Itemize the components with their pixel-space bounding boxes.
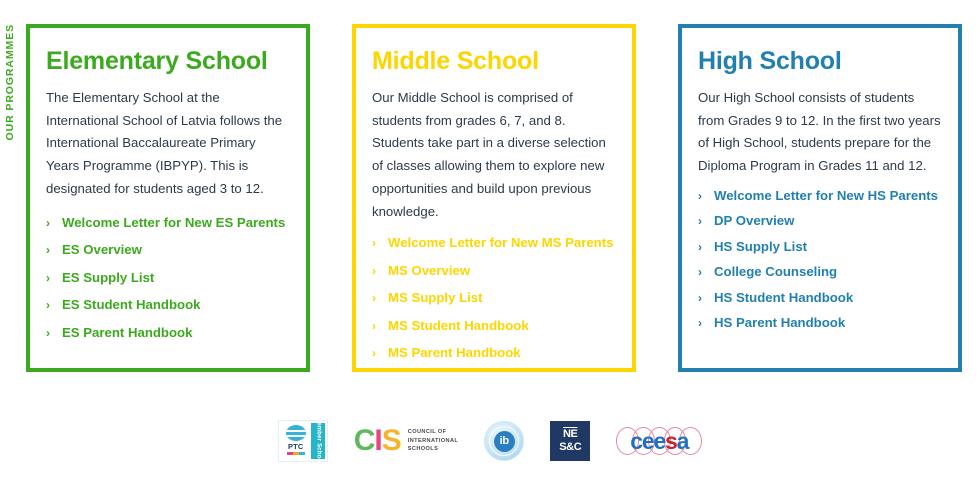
list-item[interactable]: › Welcome Letter for New HS Parents [698,188,942,205]
panel-description-elementary: The Elementary School at the Internation… [46,87,290,201]
ptc-member-badge-text: Member School [314,417,322,464]
cis-subtitle-line-1: COUNCIL OF [408,428,458,437]
chevron-right-icon: › [372,264,388,279]
link-label[interactable]: Welcome Letter for New MS Parents [388,235,613,252]
our-programmes-side-label: OUR PROGRAMMES [0,24,21,164]
panel-title-elementary: Elementary School [46,48,290,75]
chevron-right-icon: › [46,298,62,313]
chevron-right-icon: › [698,214,714,229]
link-label[interactable]: ES Supply List [62,270,154,287]
link-label[interactable]: HS Supply List [714,239,807,256]
list-item[interactable]: › HS Student Handbook [698,290,942,307]
cis-letter-c: C [354,426,375,456]
ib-logo-icon[interactable]: ib [484,421,524,461]
link-label[interactable]: HS Parent Handbook [714,315,845,332]
cis-subtitle-line-3: SCHOOLS [408,445,458,454]
link-list-elementary: › Welcome Letter for New ES Parents › ES… [46,215,290,342]
panel-high-school: High School Our High School consists of … [678,24,962,372]
link-list-middle: › Welcome Letter for New MS Parents › MS… [372,235,616,362]
list-item[interactable]: › Welcome Letter for New MS Parents [372,235,616,252]
chevron-right-icon: › [698,265,714,280]
ptc-color-bar [287,452,305,455]
list-item[interactable]: › ES Supply List [46,270,290,287]
neasc-line-2: S&C [559,442,581,453]
programme-panels-row: Elementary School The Elementary School … [26,24,962,372]
list-item[interactable]: › DP Overview [698,213,942,230]
list-item[interactable]: › ES Parent Handbook [46,325,290,342]
cis-letter-s: S [382,426,401,456]
ptc-member-school-icon[interactable]: PTC Member School [278,420,328,462]
cis-subtitle-line-2: INTERNATIONAL [408,437,458,446]
cis-subtitle: COUNCIL OF INTERNATIONAL SCHOOLS [408,428,458,454]
list-item[interactable]: › ES Student Handbook [46,297,290,314]
link-label[interactable]: ES Overview [62,242,142,259]
globe-icon [286,425,306,441]
ceesa-logo-icon[interactable]: ceesa [616,424,702,458]
list-item[interactable]: › MS Overview [372,263,616,280]
list-item[interactable]: › MS Parent Handbook [372,345,616,362]
list-item[interactable]: › MS Supply List [372,290,616,307]
panel-description-high: Our High School consists of students fro… [698,87,942,178]
ib-wordmark: ib [494,431,515,452]
list-item[interactable]: › College Counseling [698,264,942,281]
chevron-right-icon: › [372,236,388,251]
list-item[interactable]: › ES Overview [46,242,290,259]
panel-title-middle: Middle School [372,48,616,75]
link-label[interactable]: HS Student Handbook [714,290,853,307]
list-item[interactable]: › Welcome Letter for New ES Parents [46,215,290,232]
cis-logo-icon[interactable]: C I S COUNCIL OF INTERNATIONAL SCHOOLS [354,420,459,462]
chevron-right-icon: › [46,216,62,231]
link-label[interactable]: MS Parent Handbook [388,345,521,362]
panel-middle-school: Middle School Our Middle School is compr… [352,24,636,372]
link-label[interactable]: DP Overview [714,213,794,230]
ceesa-word-part-1: cee [630,428,665,454]
link-label[interactable]: MS Supply List [388,290,483,307]
cis-wordmark: C I S [354,426,401,456]
chevron-right-icon: › [372,291,388,306]
panel-description-middle: Our Middle School is comprised of studen… [372,87,616,223]
link-label[interactable]: College Counseling [714,264,837,281]
chevron-right-icon: › [46,243,62,258]
ceesa-word-part-2: s [665,428,677,454]
link-label[interactable]: Welcome Letter for New ES Parents [62,215,285,232]
accreditation-logo-strip: PTC Member School C I S COUNCIL OF INTER… [0,412,980,470]
chevron-right-icon: › [372,346,388,361]
chevron-right-icon: › [698,240,714,255]
neasc-line-1: NE [563,429,577,440]
neasc-logo-icon[interactable]: NE S&C [550,421,590,461]
link-label[interactable]: MS Student Handbook [388,318,529,335]
link-label[interactable]: Welcome Letter for New HS Parents [714,188,938,205]
chevron-right-icon: › [46,271,62,286]
ptc-member-badge: Member School [311,423,325,459]
chevron-right-icon: › [46,326,62,341]
link-label[interactable]: MS Overview [388,263,470,280]
panel-title-high: High School [698,48,942,75]
list-item[interactable]: › HS Supply List [698,239,942,256]
list-item[interactable]: › HS Parent Handbook [698,315,942,332]
chevron-right-icon: › [698,291,714,306]
ptc-wordmark: PTC [288,442,304,451]
ceesa-word-part-3: a [677,428,689,454]
ceesa-wordmark: ceesa [630,430,688,453]
list-item[interactable]: › MS Student Handbook [372,318,616,335]
link-list-high: › Welcome Letter for New HS Parents › DP… [698,188,942,332]
our-programmes-side-label-text: OUR PROGRAMMES [5,24,16,140]
cis-letter-i: I [374,426,381,456]
ptc-logo-mark: PTC [281,423,311,459]
chevron-right-icon: › [698,316,714,331]
chevron-right-icon: › [698,189,714,204]
link-label[interactable]: ES Parent Handbook [62,325,192,342]
link-label[interactable]: ES Student Handbook [62,297,200,314]
panel-elementary-school: Elementary School The Elementary School … [26,24,310,372]
chevron-right-icon: › [372,319,388,334]
